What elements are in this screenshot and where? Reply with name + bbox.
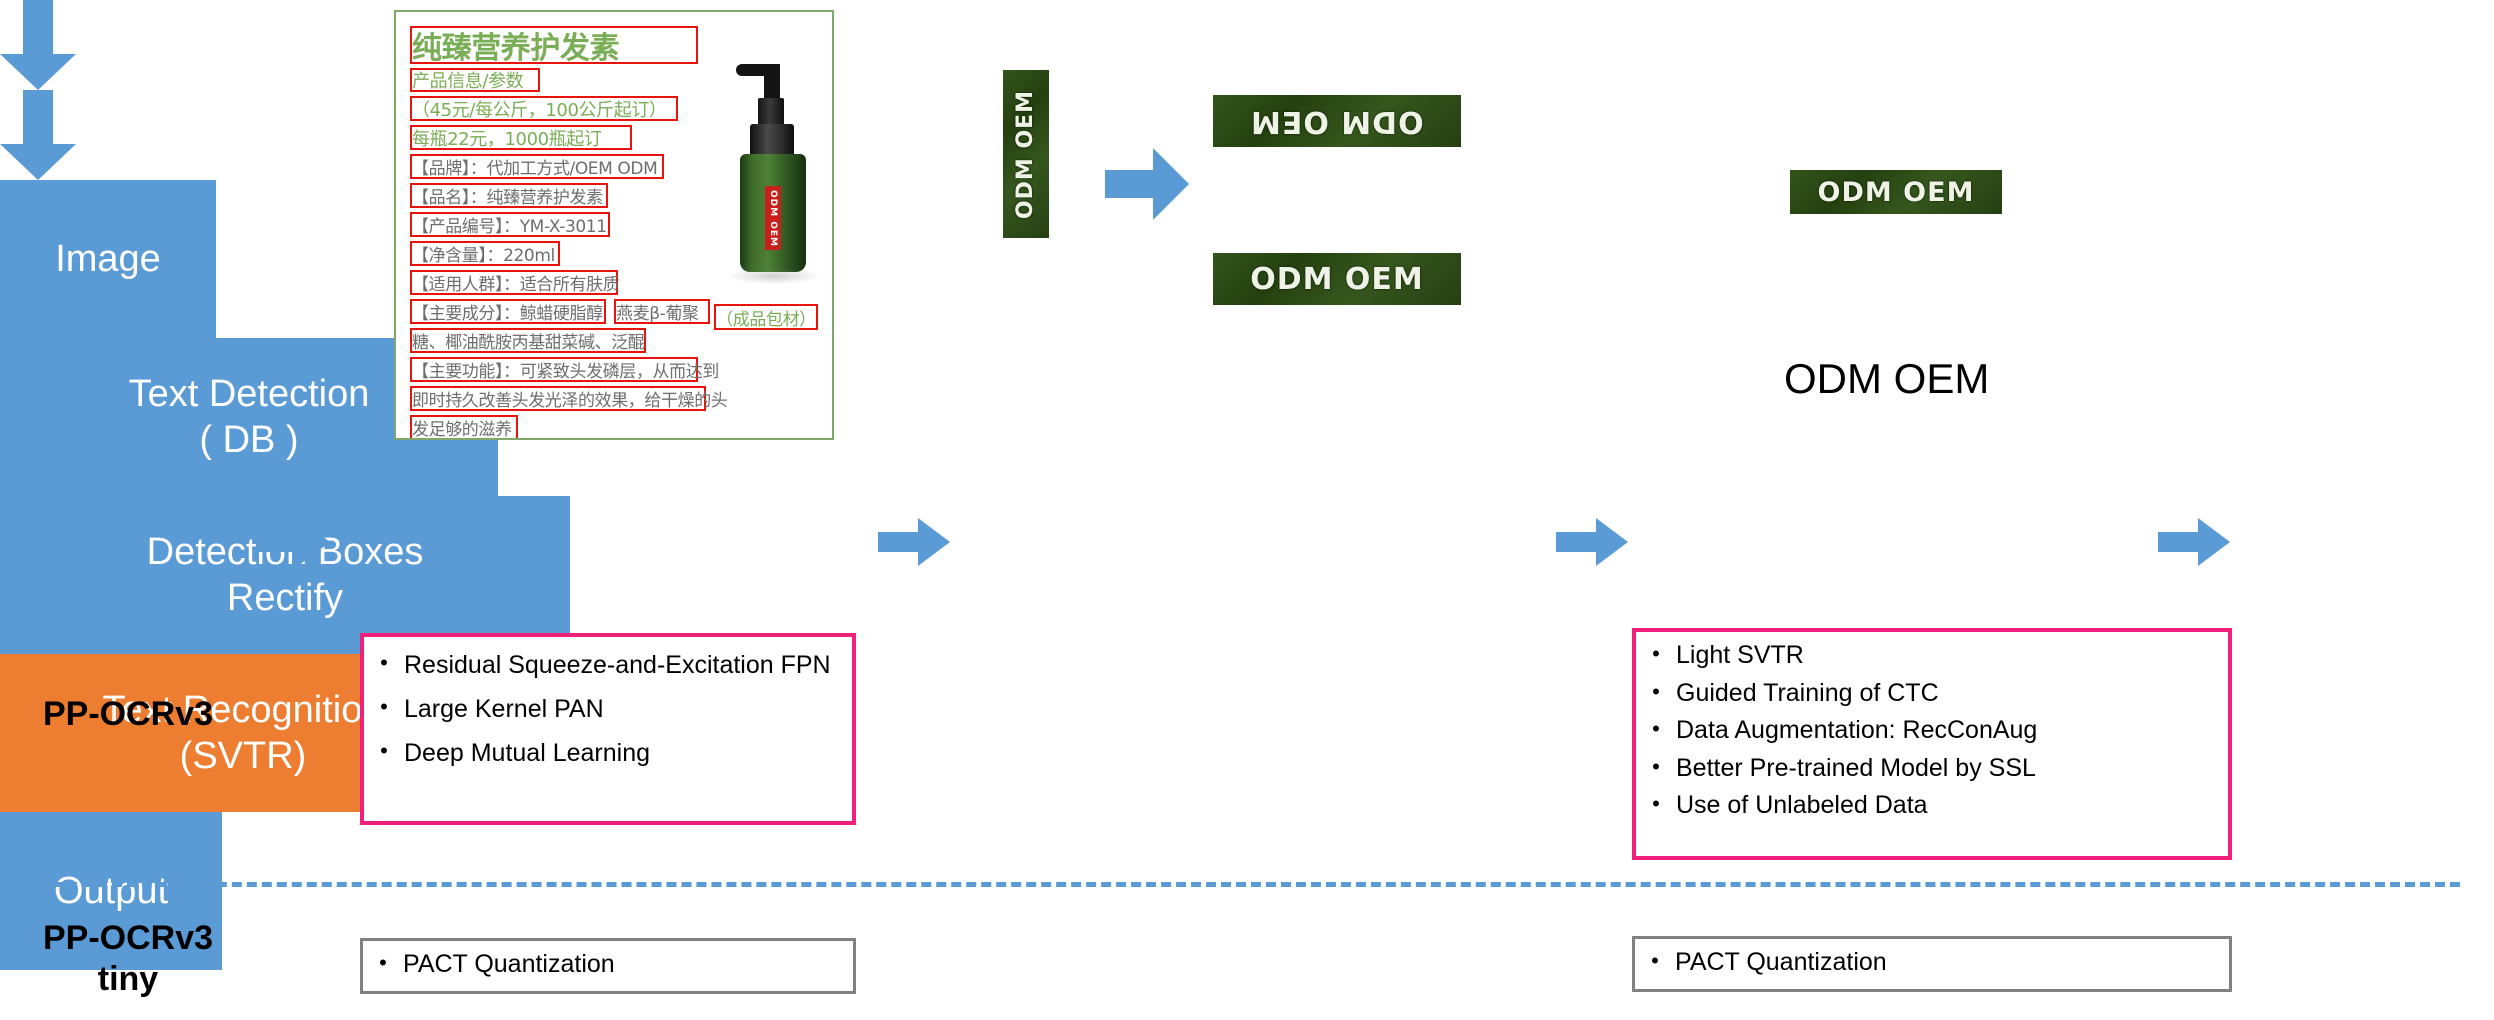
recognition-features-list: • Light SVTR • Guided Training of CTC • … <box>1636 632 2228 820</box>
bottle-brand-label: ODM OEM <box>765 186 781 250</box>
detection-box-line-1: （45元/每公斤，100公斤起订） <box>410 96 678 121</box>
recognition-features-box: • Light SVTR • Guided Training of CTC • … <box>1632 628 2232 860</box>
bullet-icon: • <box>1636 642 1676 666</box>
detection-box-line-6: 【净含量】：220ml <box>410 241 560 266</box>
bottle-shadow <box>728 268 820 284</box>
detection-box-line-9: 燕麦β-葡聚 <box>614 299 710 324</box>
pipeline-stage-text-detection-label: Text Detection <box>129 371 370 417</box>
recognition-arrow-down-icon <box>0 90 76 180</box>
pipeline-arrow-3-icon <box>1556 518 1628 566</box>
tiny-detection-feature-item: • PACT Quantization <box>363 951 853 979</box>
detection-box-line-3: 【品牌】：代加工方式/OEM ODM <box>410 154 664 179</box>
pipeline-arrow-4-icon <box>2158 518 2230 566</box>
recognition-feature-item: • Light SVTR <box>1636 642 2220 670</box>
rectify-arrow-right-icon <box>1105 148 1189 220</box>
recognition-feature-item: • Guided Training of CTC <box>1636 680 2220 708</box>
bullet-icon: • <box>1636 755 1676 779</box>
tiny-recognition-features-list: • PACT Quantization <box>1635 939 2229 977</box>
bullet-icon: • <box>364 739 404 764</box>
row-label-tiny-line1: PP-OCRv3 <box>43 919 213 957</box>
detection-box-line-7: 【适用人群】：适合所有肤质 <box>410 270 618 295</box>
pipeline-arrow-1-icon <box>258 518 330 566</box>
recognition-feature-item: • Use of Unlabeled Data <box>1636 792 2220 820</box>
row-label-tiny-line2: tiny <box>98 960 158 998</box>
section-divider <box>22 882 2460 887</box>
detection-box-line-2: 每瓶22元，1000瓶起订 <box>410 125 632 150</box>
detection-features-list: • Residual Squeeze-and-Excitation FPN • … <box>364 637 852 767</box>
detection-box-line-4: 【品名】：纯臻营养护发素 <box>410 183 608 208</box>
detection-box-line-11: 【主要功能】：可紧致头发磷层，从而达到 <box>410 357 698 382</box>
detection-feature-item: • Deep Mutual Learning <box>364 739 842 767</box>
crop-rectified-odm-oem: ODM OEM <box>1213 253 1461 305</box>
detection-box-line-0: 产品信息/参数 <box>410 68 540 92</box>
crop-recognition-input: ODM OEM <box>1790 170 2002 214</box>
detection-box-line-5: 【产品编号】：YM-X-3011 <box>410 212 610 237</box>
detection-box-line-12: 即时持久改善头发光泽的效果，给干燥的头 <box>410 386 706 411</box>
detection-features-box: • Residual Squeeze-and-Excitation FPN • … <box>360 633 856 825</box>
detection-box-line-8: 【主要成分】：鲸蜡硬脂醇 <box>410 299 606 324</box>
pipeline-arrow-2-icon <box>878 518 950 566</box>
crop-rotated-text: ODM OEM <box>1250 104 1424 139</box>
row-label-ppocrv3-tiny: PP-OCRv3 tiny <box>20 918 236 1001</box>
pipeline-stage-text-detection-sublabel: ( DB ) <box>129 417 370 463</box>
tiny-detection-features-box: • PACT Quantization <box>360 938 856 994</box>
bullet-icon: • <box>364 695 404 720</box>
crop-vertical-text: ODM OEM <box>1014 89 1039 218</box>
recognition-output-text: ODM OEM <box>1784 355 1989 403</box>
crop-vertical-odm-oem: ODM OEM <box>1003 70 1049 238</box>
pipeline-stage-image[interactable]: Image <box>0 180 216 338</box>
crop-recognition-input-text: ODM OEM <box>1818 177 1975 208</box>
tiny-recognition-feature-item: • PACT Quantization <box>1635 949 2229 977</box>
detection-text-title: 纯臻营养护发素 <box>412 23 619 67</box>
bullet-icon: • <box>1636 792 1676 816</box>
pipeline-stage-rectify-sublabel: Rectify <box>147 575 424 621</box>
rectify-arrow-down-icon <box>0 0 76 90</box>
detection-box-packaging: （成品包材） <box>714 304 818 330</box>
bottle-collar <box>750 124 794 158</box>
detection-feature-item: • Residual Squeeze-and-Excitation FPN <box>364 651 842 679</box>
recognition-feature-item: • Data Augmentation: RecConAug <box>1636 717 2220 745</box>
pipeline-stage-image-label: Image <box>55 236 161 282</box>
row-label-ppocrv3: PP-OCRv3 <box>20 694 236 735</box>
bullet-icon: • <box>363 951 403 975</box>
crop-rotated-odm-oem: ODM OEM <box>1213 95 1461 147</box>
bullet-icon: • <box>364 651 404 676</box>
pipeline-stage-text-recognition-sublabel: (SVTR) <box>103 733 384 779</box>
detection-box-line-10: 糖、椰油酰胺丙基甜菜碱、泛醌 <box>410 328 646 353</box>
crop-rectified-text: ODM OEM <box>1250 262 1424 297</box>
detection-box-line-13: 发足够的滋养 <box>410 415 518 440</box>
detection-box-title: 纯臻营养护发素 <box>410 26 698 64</box>
pipeline-stage-output-label: Output <box>54 868 168 914</box>
product-bottle: ODM OEM <box>706 40 830 290</box>
detection-input-image: 纯臻营养护发素 产品信息/参数 （45元/每公斤，100公斤起订） 每瓶22元，… <box>394 10 834 440</box>
detection-feature-item: • Large Kernel PAN <box>364 695 842 723</box>
bullet-icon: • <box>1636 680 1676 704</box>
tiny-detection-features-list: • PACT Quantization <box>363 941 853 979</box>
tiny-recognition-features-box: • PACT Quantization <box>1632 936 2232 992</box>
bullet-icon: • <box>1635 949 1675 973</box>
recognition-feature-item: • Better Pre-trained Model by SSL <box>1636 755 2220 783</box>
bullet-icon: • <box>1636 717 1676 741</box>
